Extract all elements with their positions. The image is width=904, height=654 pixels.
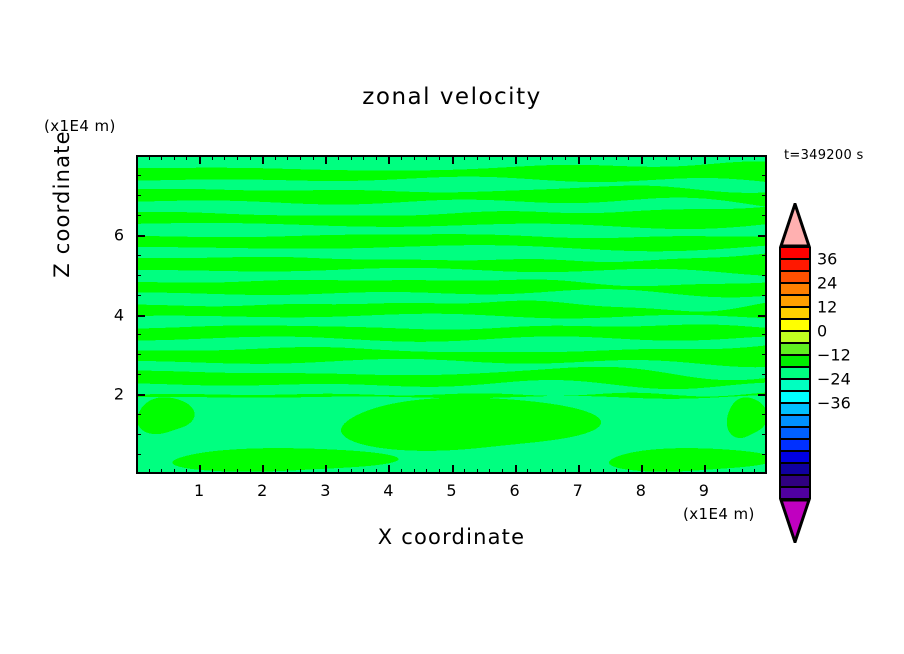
axis-tick (149, 155, 150, 160)
axis-tick (565, 155, 566, 160)
axis-tick (351, 469, 352, 474)
axis-tick (426, 155, 427, 160)
axis-tick (136, 414, 141, 415)
colorbar-over-arrow (779, 203, 811, 247)
axis-tick (414, 155, 415, 160)
axis-tick (464, 469, 465, 474)
axis-tick (452, 465, 454, 474)
axis-tick (161, 155, 162, 160)
axis-tick (704, 465, 706, 474)
axis-tick (174, 469, 175, 474)
axis-tick (565, 469, 566, 474)
axis-tick (262, 155, 264, 164)
axis-tick (762, 295, 767, 296)
axis-tick (762, 354, 767, 355)
figure-root: zonal velocity (x1E4 m) (x1E4 m) t=34920… (0, 0, 904, 654)
axis-tick (691, 155, 692, 160)
axis-tick (679, 469, 680, 474)
axis-tick (136, 235, 145, 237)
axis-tick (704, 155, 706, 164)
colorbar-segment (779, 487, 811, 499)
axis-tick (338, 155, 339, 160)
colorbar-under-arrow (779, 499, 811, 543)
colorbar-tick-label: 36 (817, 250, 837, 269)
axis-tick (641, 465, 643, 474)
x-tick-label: 3 (320, 481, 330, 500)
axis-tick (262, 465, 264, 474)
axis-tick (275, 155, 276, 160)
axis-tick (237, 155, 238, 160)
axis-tick (540, 469, 541, 474)
x-axis-unit-label: (x1E4 m) (683, 505, 755, 523)
axis-tick (212, 469, 213, 474)
axis-tick (174, 155, 175, 160)
axis-tick (762, 275, 767, 276)
axis-tick (464, 155, 465, 160)
colorbar-tick-label: −36 (817, 394, 851, 413)
axis-tick (552, 469, 553, 474)
axis-tick (762, 175, 767, 176)
axis-tick (641, 155, 643, 164)
axis-tick (603, 469, 604, 474)
axis-tick (313, 155, 314, 160)
page-title: zonal velocity (0, 84, 904, 110)
colorbar-segment (779, 319, 811, 331)
axis-tick (388, 155, 390, 164)
colorbar-segment (779, 355, 811, 367)
axis-tick (679, 155, 680, 160)
colorbar-segment (779, 415, 811, 427)
axis-tick (426, 469, 427, 474)
axis-tick (199, 155, 201, 164)
axis-tick (729, 469, 730, 474)
axis-tick (300, 155, 301, 160)
axis-tick (758, 235, 767, 237)
axis-tick (758, 315, 767, 317)
axis-tick (762, 215, 767, 216)
axis-tick (666, 469, 667, 474)
axis-tick (136, 334, 141, 335)
colorbar-segment (779, 295, 811, 307)
axis-tick (758, 394, 767, 396)
axis-tick (717, 469, 718, 474)
axis-tick (300, 469, 301, 474)
axis-tick (527, 469, 528, 474)
axis-tick (616, 469, 617, 474)
axis-tick (540, 155, 541, 160)
colorbar (779, 203, 811, 543)
axis-tick (717, 155, 718, 160)
x-tick-label: 9 (699, 481, 709, 500)
axis-tick (250, 155, 251, 160)
axis-tick (136, 315, 145, 317)
colorbar-segment (779, 463, 811, 475)
axis-tick (363, 469, 364, 474)
axis-tick (515, 155, 517, 164)
colorbar-segment (779, 475, 811, 487)
axis-tick (224, 155, 225, 160)
y-tick-label: 2 (106, 385, 124, 404)
axis-tick (199, 465, 201, 474)
x-tick-label: 6 (510, 481, 520, 500)
axis-tick (762, 374, 767, 375)
axis-tick (578, 465, 580, 474)
axis-tick (363, 155, 364, 160)
axis-tick (653, 469, 654, 474)
axis-tick (313, 469, 314, 474)
timestamp-annotation: t=349200 s (784, 148, 864, 163)
x-tick-label: 1 (194, 481, 204, 500)
axis-tick (502, 155, 503, 160)
axis-tick (401, 469, 402, 474)
axis-tick (653, 155, 654, 160)
axis-tick (762, 454, 767, 455)
axis-tick (161, 469, 162, 474)
axis-tick (275, 469, 276, 474)
x-tick-label: 5 (446, 481, 456, 500)
axis-tick (762, 334, 767, 335)
axis-tick (237, 469, 238, 474)
axis-tick (376, 155, 377, 160)
axis-tick (136, 354, 141, 355)
axis-tick (515, 465, 517, 474)
axis-tick (376, 469, 377, 474)
axis-tick (489, 155, 490, 160)
plot-area (136, 155, 767, 474)
axis-tick (136, 374, 141, 375)
axis-tick (149, 469, 150, 474)
x-tick-label: 8 (636, 481, 646, 500)
colorbar-tick-label: 12 (817, 298, 837, 317)
axis-tick (489, 469, 490, 474)
x-tick-label: 4 (383, 481, 393, 500)
axis-tick (224, 469, 225, 474)
axis-tick (186, 155, 187, 160)
colorbar-segment (779, 403, 811, 415)
axis-tick (388, 465, 390, 474)
x-tick-label: 2 (257, 481, 267, 500)
axis-tick (452, 155, 454, 164)
axis-tick (527, 155, 528, 160)
colorbar-segment (779, 259, 811, 271)
axis-tick (666, 155, 667, 160)
colorbar-tick-label: −12 (817, 346, 851, 365)
x-tick-label: 7 (573, 481, 583, 500)
x-axis-title: X coordinate (136, 525, 767, 549)
colorbar-segment (779, 451, 811, 463)
colorbar-segment (779, 391, 811, 403)
axis-tick (590, 155, 591, 160)
axis-tick (287, 155, 288, 160)
axis-tick (136, 295, 141, 296)
axis-tick (603, 155, 604, 160)
axis-tick (477, 155, 478, 160)
axis-tick (351, 155, 352, 160)
axis-tick (401, 155, 402, 160)
axis-tick (762, 255, 767, 256)
axis-tick (136, 454, 141, 455)
axis-tick (754, 469, 755, 474)
axis-tick (590, 469, 591, 474)
axis-tick (136, 434, 141, 435)
colorbar-segment (779, 379, 811, 391)
axis-tick (338, 469, 339, 474)
y-tick-label: 4 (106, 305, 124, 324)
colorbar-segment (779, 367, 811, 379)
colorbar-tick-label: 24 (817, 274, 837, 293)
axis-tick (250, 469, 251, 474)
axis-tick (762, 195, 767, 196)
axis-tick (136, 394, 145, 396)
colorbar-segment (779, 331, 811, 343)
axis-tick (552, 155, 553, 160)
colorbar-segment (779, 271, 811, 283)
axis-tick (136, 255, 141, 256)
axis-tick (578, 155, 580, 164)
axis-tick (628, 155, 629, 160)
axis-tick (186, 469, 187, 474)
colorbar-segment (779, 439, 811, 451)
axis-tick (136, 195, 141, 196)
colorbar-segment (779, 343, 811, 355)
axis-tick (136, 275, 141, 276)
axis-tick (762, 414, 767, 415)
axis-tick (212, 155, 213, 160)
colorbar-segment (779, 427, 811, 439)
colorbar-segment (779, 307, 811, 319)
axis-tick (136, 215, 141, 216)
contour-field (138, 157, 765, 472)
axis-tick (414, 469, 415, 474)
axis-tick (742, 469, 743, 474)
y-tick-label: 6 (106, 225, 124, 244)
axis-tick (729, 155, 730, 160)
axis-tick (616, 155, 617, 160)
axis-tick (742, 155, 743, 160)
axis-tick (439, 155, 440, 160)
axis-tick (754, 155, 755, 160)
axis-tick (439, 469, 440, 474)
axis-tick (287, 469, 288, 474)
colorbar-segment (779, 283, 811, 295)
colorbar-tick-label: 0 (817, 322, 827, 341)
colorbar-segment (779, 247, 811, 259)
axis-tick (477, 469, 478, 474)
axis-tick (136, 175, 141, 176)
axis-tick (628, 469, 629, 474)
axis-tick (691, 469, 692, 474)
colorbar-tick-label: −24 (817, 370, 851, 389)
y-axis-title: Z coordinate (50, 84, 74, 324)
axis-tick (325, 155, 327, 164)
axis-tick (325, 465, 327, 474)
axis-tick (502, 469, 503, 474)
axis-tick (762, 434, 767, 435)
